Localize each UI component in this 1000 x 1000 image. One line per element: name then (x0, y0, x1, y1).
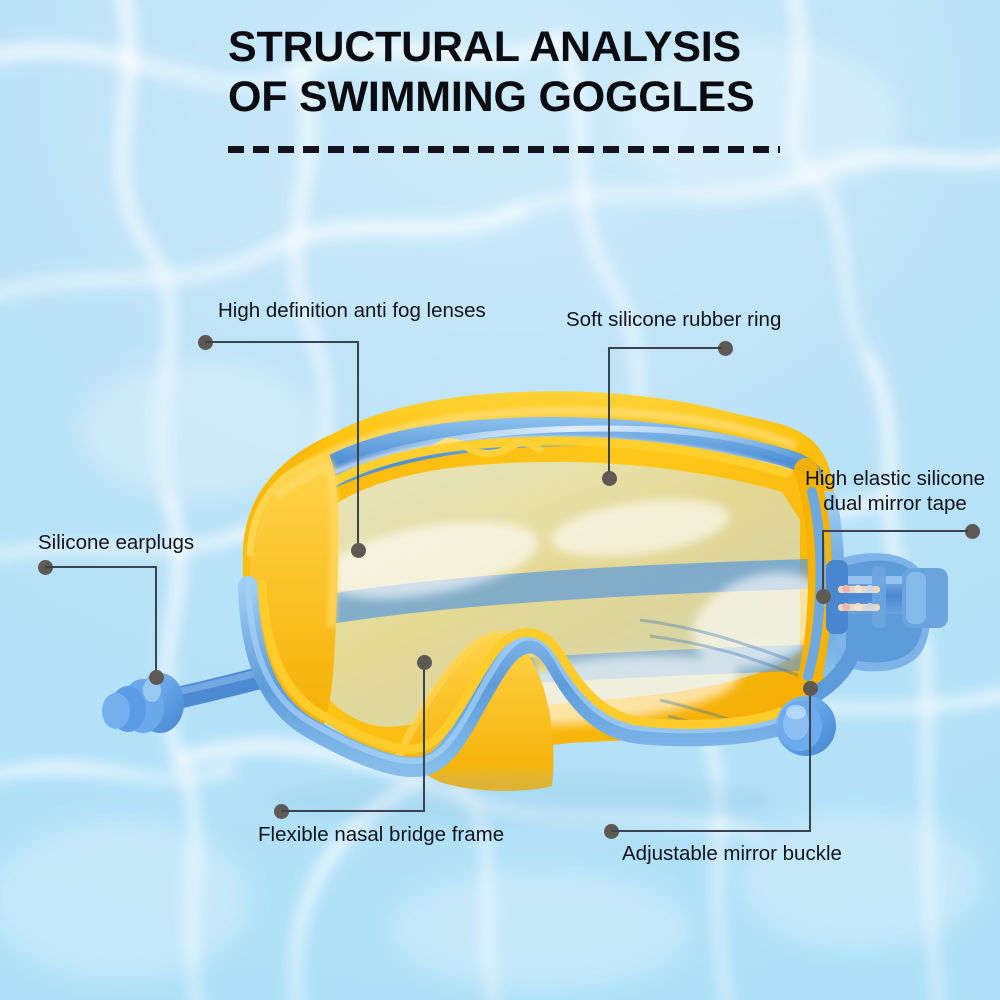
callout-line-tape-v (822, 530, 824, 596)
callout-line-buckle-h (611, 830, 811, 832)
callout-label-lenses: High definition anti fog lenses (218, 298, 486, 323)
goggle-frame-body (243, 391, 841, 791)
callout-line-buckle-v (809, 688, 811, 830)
callout-dot-lenses-anchor[interactable] (351, 543, 366, 558)
callout-line-ring-h (608, 347, 722, 349)
callout-line-nasal-v (423, 662, 425, 810)
callout-line-earplugs-h (45, 566, 157, 568)
callout-label-mirror-tape-line1: High elastic silicone (805, 467, 985, 490)
callout-dot-tape-anchor[interactable] (816, 589, 831, 604)
callout-line-lenses-v (357, 341, 359, 551)
callout-label-mirror-tape-line2: dual mirror tape (823, 492, 967, 515)
callout-dot-earplugs-anchor[interactable] (149, 670, 164, 685)
infographic-canvas: STRUCTURAL ANALYSIS OF SWIMMING GOGGLES (0, 0, 1000, 1000)
product-shadow (270, 772, 770, 828)
callout-line-earplugs-v (155, 566, 157, 678)
callout-label-mirror-buckle: Adjustable mirror buckle (622, 841, 842, 866)
callout-line-tape-h (822, 530, 968, 532)
callout-dot-ring-anchor[interactable] (602, 471, 617, 486)
callout-line-nasal-h (281, 810, 425, 812)
callout-label-earplugs: Silicone earplugs (38, 530, 194, 555)
callout-dot-nasal-anchor[interactable] (417, 655, 432, 670)
callout-dot-buckle-anchor[interactable] (803, 681, 818, 696)
callout-label-nasal-bridge: Flexible nasal bridge frame (258, 822, 504, 847)
callout-line-lenses-h (205, 341, 359, 343)
callout-label-mirror-tape: High elastic silicone dual mirror tape (800, 466, 990, 516)
callout-label-rubber-ring: Soft silicone rubber ring (566, 307, 781, 332)
callout-line-ring-v (608, 347, 610, 479)
